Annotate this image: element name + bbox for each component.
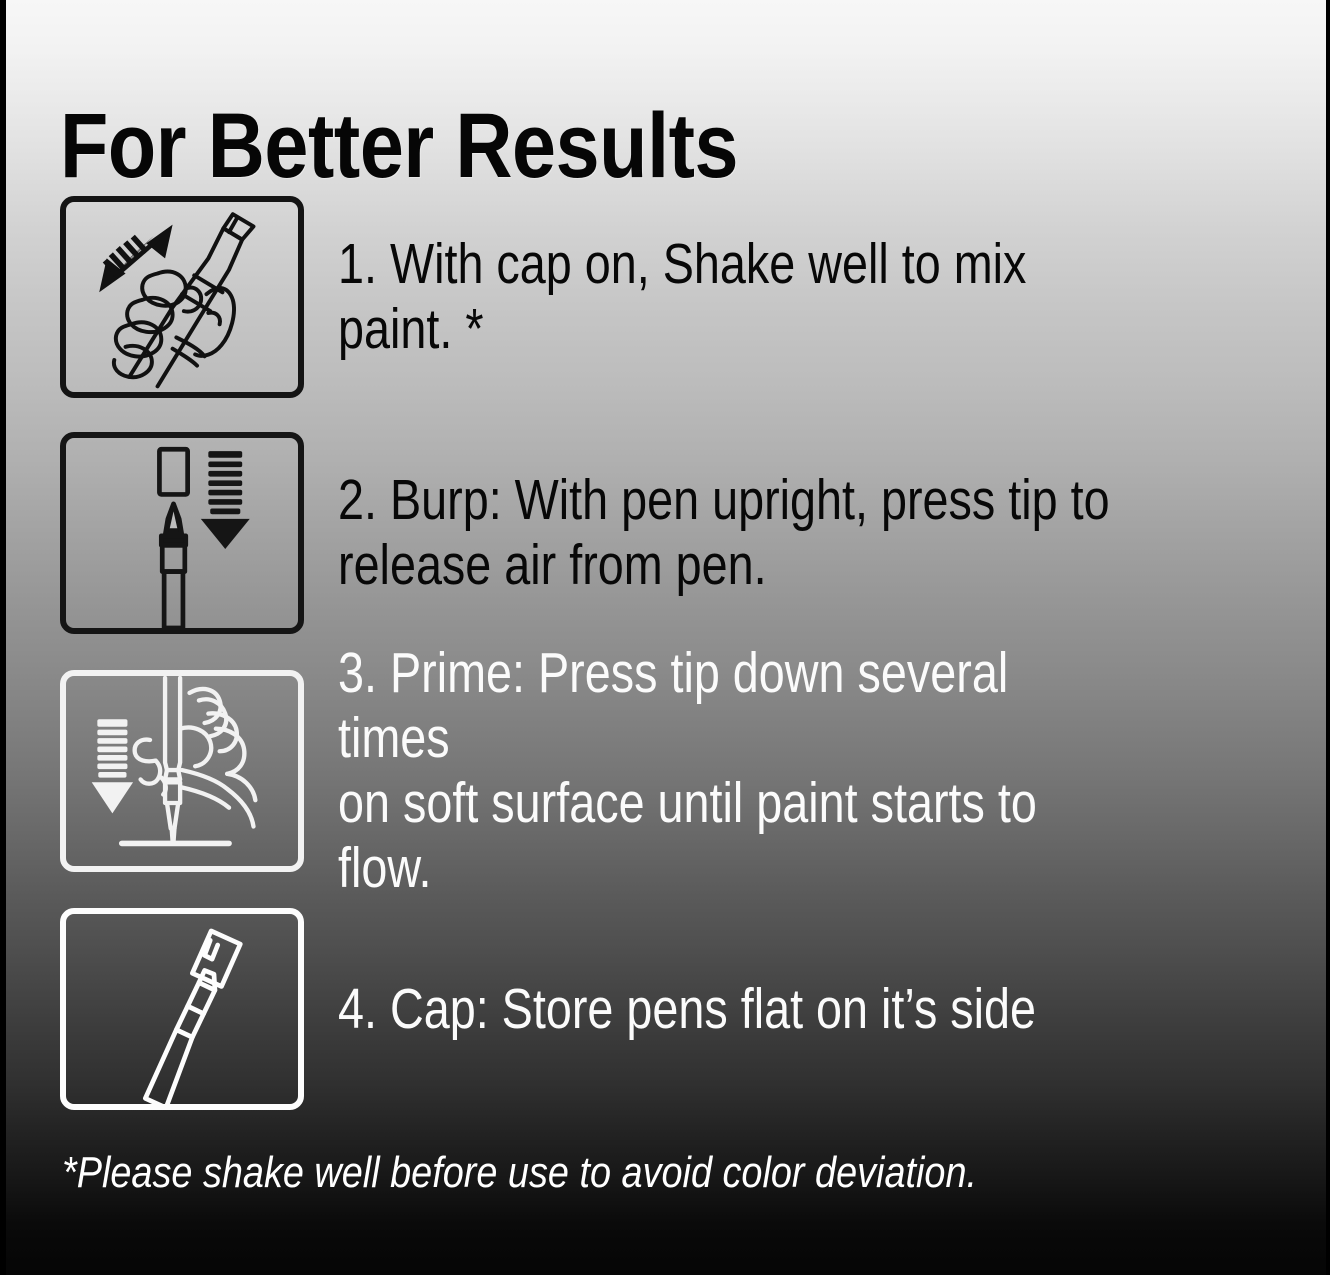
prime-pen-icon bbox=[60, 670, 304, 872]
step-row-1: 1. With cap on, Shake well to mix paint.… bbox=[60, 196, 1290, 398]
step-text-1: 1. With cap on, Shake well to mix paint.… bbox=[338, 232, 1119, 362]
step-row-4: 4. Cap: Store pens flat on it’s side bbox=[60, 908, 1290, 1110]
page-title: For Better Results bbox=[60, 100, 738, 192]
cap-pen-icon bbox=[60, 908, 304, 1110]
step-row-3: 3. Prime: Press tip down several times o… bbox=[60, 670, 1290, 872]
instruction-card: For Better Results bbox=[0, 0, 1330, 1275]
footnote-text: *Please shake well before use to avoid c… bbox=[62, 1148, 977, 1198]
burp-pen-icon bbox=[60, 432, 304, 634]
step-row-2: 2. Burp: With pen upright, press tip to … bbox=[60, 432, 1290, 634]
step-text-4: 4. Cap: Store pens flat on it’s side bbox=[338, 977, 1119, 1042]
step-text-2: 2. Burp: With pen upright, press tip to … bbox=[338, 468, 1119, 598]
step-text-3: 3. Prime: Press tip down several times o… bbox=[338, 641, 1119, 901]
shake-pen-icon bbox=[60, 196, 304, 398]
